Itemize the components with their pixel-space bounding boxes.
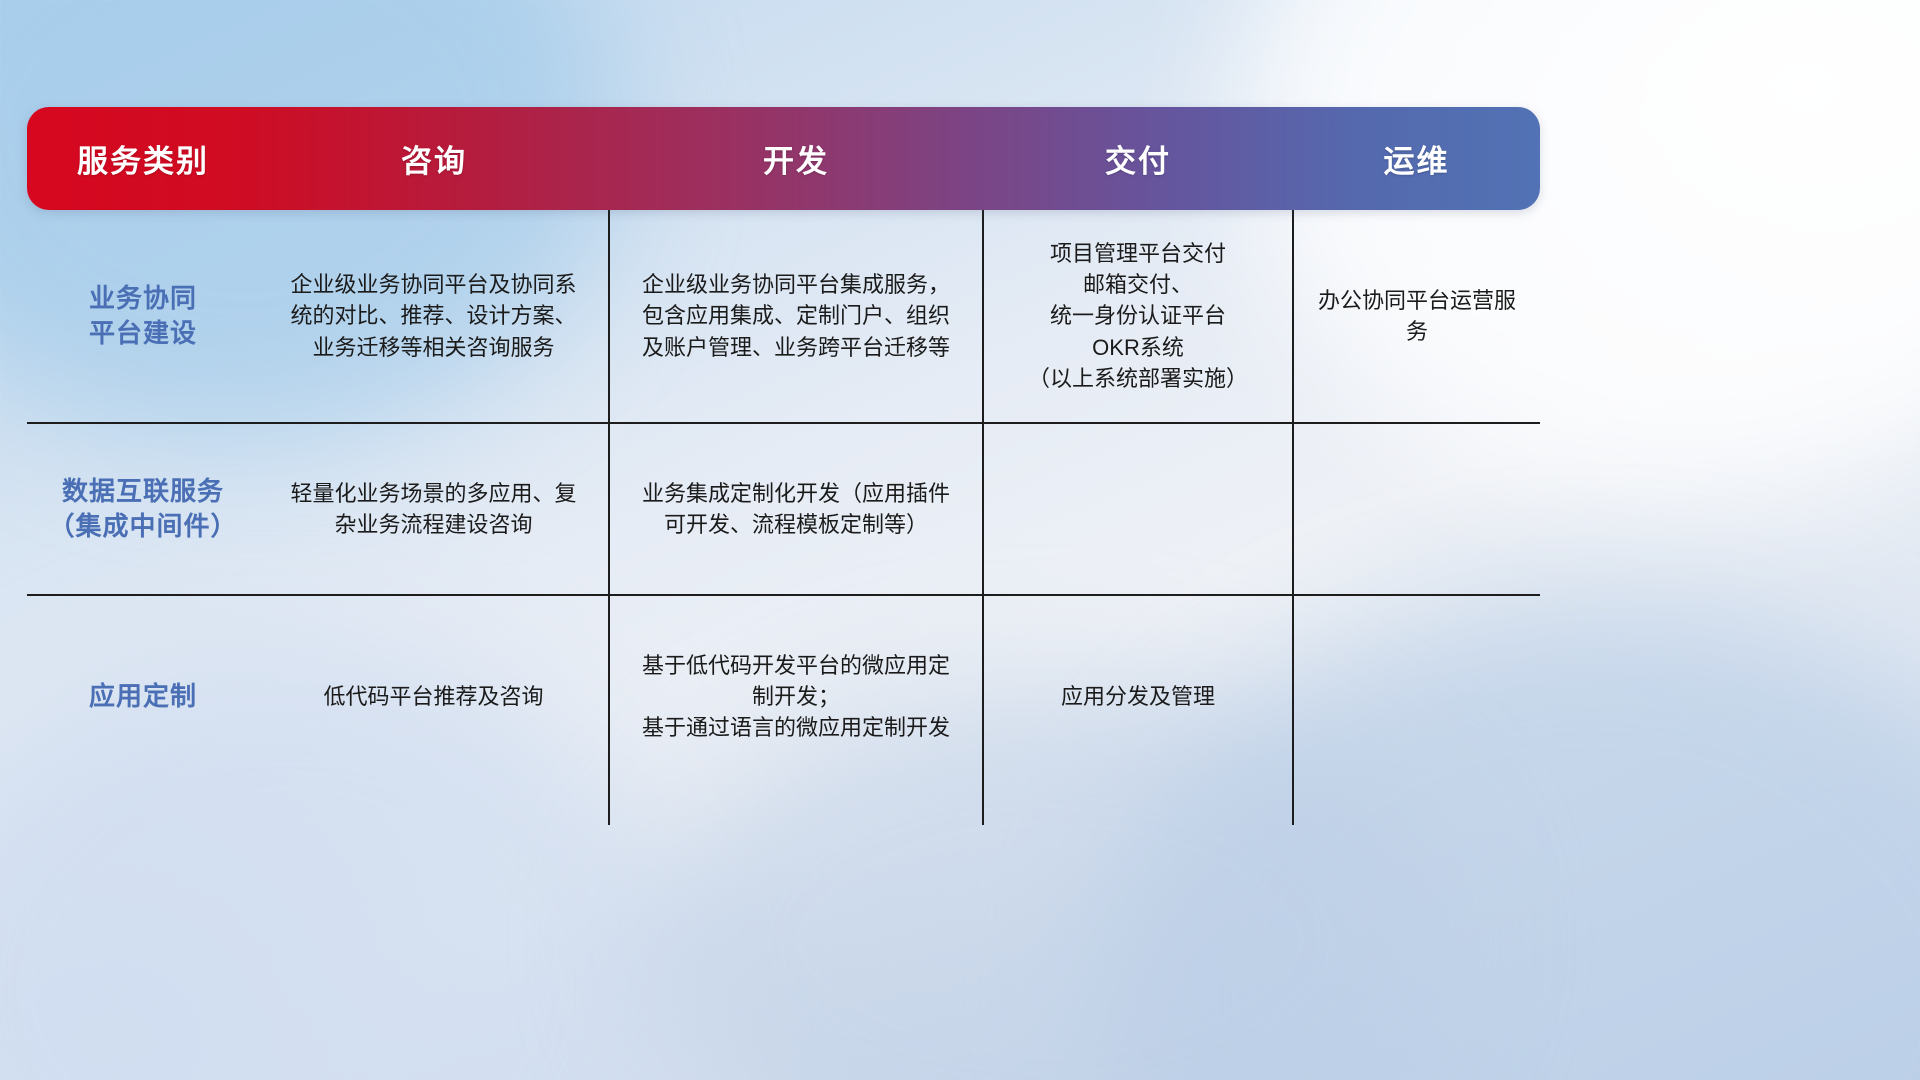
cell-operations-1: 办公协同平台运营服务 — [1293, 210, 1540, 423]
cell-operations-3 — [1293, 595, 1540, 797]
cell-consulting-2: 轻量化业务场景的多应用、复 杂业务流程建设咨询 — [259, 423, 609, 595]
column-header-operations: 运维 — [1293, 107, 1540, 210]
table-row: 应用定制 低代码平台推荐及咨询 基于低代码开发平台的微应用定 制开发； 基于通过… — [27, 595, 1540, 797]
service-matrix-table-wrapper: 服务类别 咨询 开发 交付 运维 业务协同 平台建设 企业级业务协同平台及协同系… — [27, 107, 1540, 825]
spacer-cell — [1293, 797, 1540, 825]
cell-delivery-1: 项目管理平台交付 邮箱交付、 统一身份认证平台 OKR系统 （以上系统部署实施） — [983, 210, 1293, 423]
cell-development-1: 企业级业务协同平台集成服务， 包含应用集成、定制门户、组织 及账户管理、业务跨平… — [609, 210, 983, 423]
cell-operations-2 — [1293, 423, 1540, 595]
table-header-row: 服务类别 咨询 开发 交付 运维 — [27, 107, 1540, 210]
column-header-consulting: 咨询 — [259, 107, 609, 210]
spacer-cell — [259, 797, 609, 825]
column-header-development: 开发 — [609, 107, 983, 210]
spacer-cell — [609, 797, 983, 825]
column-header-delivery: 交付 — [983, 107, 1293, 210]
column-header-category: 服务类别 — [27, 107, 259, 210]
spacer-cell — [983, 797, 1293, 825]
cell-development-2: 业务集成定制化开发（应用插件 可开发、流程模板定制等） — [609, 423, 983, 595]
cell-delivery-2 — [983, 423, 1293, 595]
table-body: 业务协同 平台建设 企业级业务协同平台及协同系 统的对比、推荐、设计方案、 业务… — [27, 210, 1540, 825]
spacer-cell — [27, 797, 259, 825]
row-category-label-3: 应用定制 — [27, 595, 259, 797]
slide-canvas: 服务类别 咨询 开发 交付 运维 业务协同 平台建设 企业级业务协同平台及协同系… — [0, 0, 1920, 1080]
cell-delivery-3: 应用分发及管理 — [983, 595, 1293, 797]
table-bottom-spacer — [27, 797, 1540, 825]
cell-development-3: 基于低代码开发平台的微应用定 制开发； 基于通过语言的微应用定制开发 — [609, 595, 983, 797]
cell-consulting-3: 低代码平台推荐及咨询 — [259, 595, 609, 797]
row-category-label-2: 数据互联服务 （集成中间件） — [27, 423, 259, 595]
row-category-label-1: 业务协同 平台建设 — [27, 210, 259, 423]
cell-consulting-1: 企业级业务协同平台及协同系 统的对比、推荐、设计方案、 业务迁移等相关咨询服务 — [259, 210, 609, 423]
service-matrix-table: 服务类别 咨询 开发 交付 运维 业务协同 平台建设 企业级业务协同平台及协同系… — [27, 107, 1540, 825]
table-row: 业务协同 平台建设 企业级业务协同平台及协同系 统的对比、推荐、设计方案、 业务… — [27, 210, 1540, 423]
table-header: 服务类别 咨询 开发 交付 运维 — [27, 107, 1540, 210]
table-row: 数据互联服务 （集成中间件） 轻量化业务场景的多应用、复 杂业务流程建设咨询 业… — [27, 423, 1540, 595]
